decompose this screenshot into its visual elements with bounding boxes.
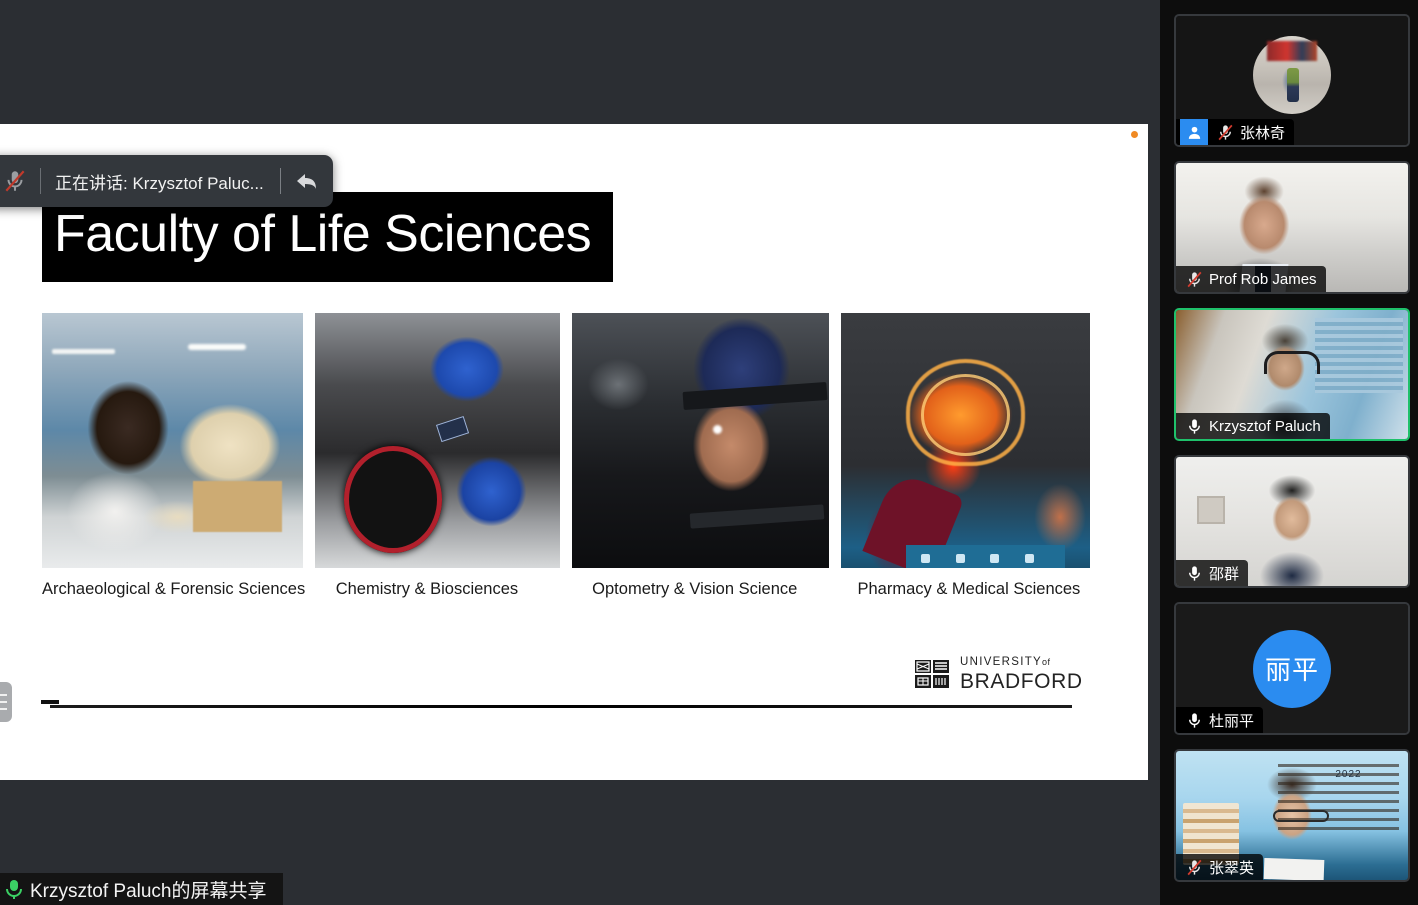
participant-name: 邵群 bbox=[1209, 563, 1239, 584]
university-logo: UNIVERSITYof BRADFORD bbox=[915, 657, 1083, 692]
mic-on-green-icon bbox=[4, 878, 24, 900]
mic-muted-icon[interactable] bbox=[2, 168, 28, 194]
participants-strip[interactable]: 张林奇 Prof Rob James bbox=[1160, 0, 1418, 905]
slide-footer-rule bbox=[50, 705, 1072, 708]
participant-name: Krzysztof Paluch bbox=[1209, 418, 1321, 435]
speaking-label: 正在讲话: Krzysztof Paluc... bbox=[55, 169, 264, 194]
slide-image-row bbox=[42, 313, 1102, 568]
participant-name: 张翠英 bbox=[1209, 857, 1254, 878]
participant-tile[interactable]: 邵群 bbox=[1174, 455, 1410, 588]
active-speaker-toolbar[interactable]: 正在讲话: Krzysztof Paluc... bbox=[0, 155, 333, 207]
presentation-slide: Faculty of Life Sciences bbox=[0, 124, 1148, 780]
annotation-mark bbox=[41, 700, 59, 704]
participant-tile-active-speaker[interactable]: Krzysztof Paluch bbox=[1174, 308, 1410, 441]
screen-share-banner: Krzysztof Paluch的屏幕共享 bbox=[0, 873, 283, 905]
caption-archaeology: Archaeological & Forensic Sciences bbox=[42, 580, 336, 599]
slide-marker-dot bbox=[1131, 131, 1138, 138]
caption-chemistry: Chemistry & Biosciences bbox=[336, 580, 592, 599]
participant-namebar: Krzysztof Paluch bbox=[1176, 413, 1330, 439]
brand-of-word: of bbox=[1042, 657, 1051, 667]
brand-university-word: UNIVERSITY bbox=[960, 656, 1042, 668]
slide-captions: Archaeological & Forensic Sciences Chemi… bbox=[42, 580, 1112, 599]
screen-share-region: Faculty of Life Sciences bbox=[0, 0, 1160, 905]
participant-namebar: 邵群 bbox=[1176, 560, 1248, 586]
floating-toolbar-handle[interactable] bbox=[0, 682, 12, 722]
toolbar-divider-2 bbox=[280, 168, 281, 194]
slide-image-chemistry bbox=[315, 313, 560, 568]
caption-pharmacy: Pharmacy & Medical Sciences bbox=[857, 580, 1112, 599]
participant-tile[interactable]: 张林奇 bbox=[1174, 14, 1410, 147]
participant-tile[interactable]: 丽平 杜丽平 bbox=[1174, 602, 1410, 735]
participant-name: Prof Rob James bbox=[1209, 271, 1317, 288]
mic-muted-icon bbox=[1185, 858, 1204, 877]
brand-bradford-word: BRADFORD bbox=[960, 671, 1083, 692]
participant-name: 张林奇 bbox=[1240, 122, 1285, 143]
slide-image-archaeology bbox=[42, 313, 303, 568]
mic-on-icon bbox=[1185, 564, 1204, 583]
avatar: 丽平 bbox=[1253, 630, 1331, 708]
back-arrow-icon[interactable] bbox=[293, 169, 321, 193]
slide-image-optometry bbox=[572, 313, 829, 568]
bradford-crest-icon bbox=[915, 660, 951, 688]
participant-namebar: Prof Rob James bbox=[1176, 266, 1326, 292]
mic-on-icon bbox=[1185, 711, 1204, 730]
participant-namebar: 杜丽平 bbox=[1176, 707, 1263, 733]
toolbar-divider bbox=[40, 168, 41, 194]
mic-muted-icon bbox=[1185, 270, 1204, 289]
mic-muted-icon bbox=[1216, 123, 1235, 142]
participant-namebar: 张林奇 bbox=[1176, 119, 1294, 145]
caption-optometry: Optometry & Vision Science bbox=[592, 580, 857, 599]
screen-share-label: Krzysztof Paluch的屏幕共享 bbox=[30, 876, 267, 903]
slide-image-pharmacy bbox=[841, 313, 1090, 568]
avatar-initials: 丽平 bbox=[1265, 650, 1319, 687]
participant-tile[interactable]: 2022 张翠英 bbox=[1174, 749, 1410, 882]
participant-namebar: 张翠英 bbox=[1176, 854, 1263, 880]
participant-name: 杜丽平 bbox=[1209, 710, 1254, 731]
zoom-meeting-window: Faculty of Life Sciences bbox=[0, 0, 1418, 905]
person-icon bbox=[1180, 119, 1208, 145]
mic-on-icon bbox=[1185, 417, 1204, 436]
participant-tile[interactable]: Prof Rob James bbox=[1174, 161, 1410, 294]
